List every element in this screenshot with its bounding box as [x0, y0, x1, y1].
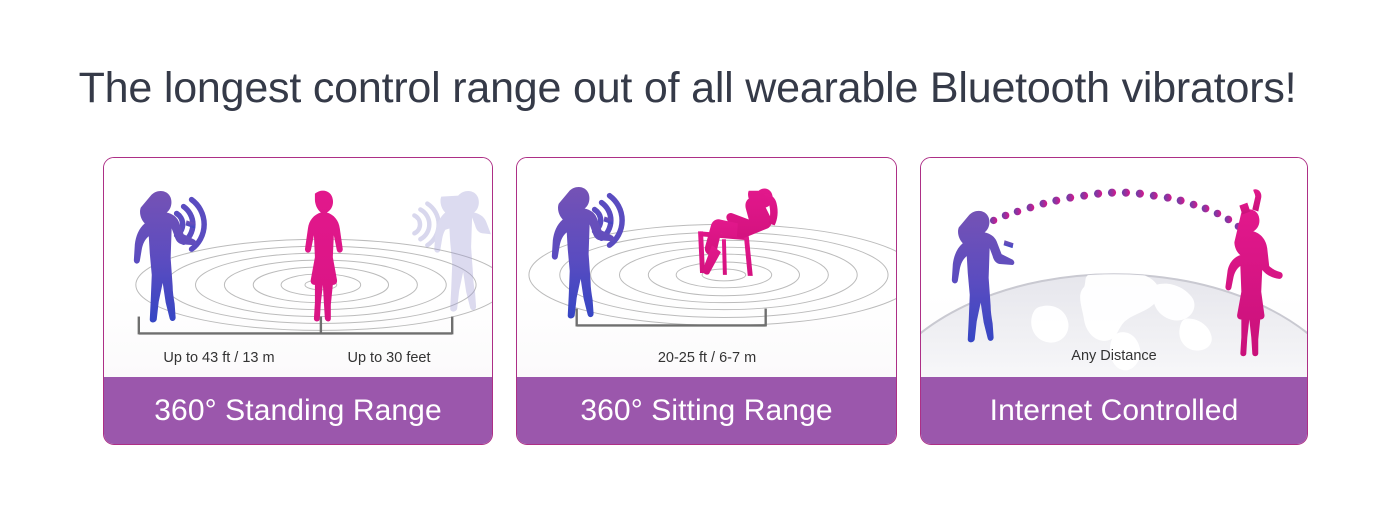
range-caption-primary: Any Distance — [921, 348, 1307, 364]
range-caption-primary: 20-25 ft / 6-7 m — [567, 350, 847, 366]
scene-internet-controlled — [921, 158, 1307, 377]
scene-sitting-range — [517, 158, 896, 377]
feature-card-standing-range[interactable]: Up to 43 ft / 13 m Up to 30 feet 360° St… — [103, 157, 493, 445]
promo-banner: The longest control range out of all wea… — [0, 0, 1375, 514]
card-illustration-sitting: 20-25 ft / 6-7 m — [517, 158, 896, 377]
scene-standing-range — [104, 158, 492, 377]
feature-card-list: Up to 43 ft / 13 m Up to 30 feet 360° St… — [103, 157, 1308, 447]
card-illustration-standing: Up to 43 ft / 13 m Up to 30 feet — [104, 158, 492, 377]
card-title-sitting-range: 360° Sitting Range — [517, 377, 896, 444]
page-title: The longest control range out of all wea… — [0, 62, 1375, 114]
card-title-standing-range: 360° Standing Range — [104, 377, 492, 444]
feature-card-internet-controlled[interactable]: Any Distance Internet Controlled — [920, 157, 1308, 445]
range-caption-primary: Up to 43 ft / 13 m — [134, 350, 304, 366]
feature-card-sitting-range[interactable]: 20-25 ft / 6-7 m 360° Sitting Range — [516, 157, 897, 445]
ripple-rings — [136, 239, 492, 330]
figure-man-with-phone-faded — [414, 191, 491, 312]
dotted-connection-arc — [979, 189, 1242, 230]
card-title-internet-controlled: Internet Controlled — [921, 377, 1307, 444]
card-illustration-internet: Any Distance — [921, 158, 1307, 377]
range-caption-secondary: Up to 30 feet — [309, 350, 469, 366]
